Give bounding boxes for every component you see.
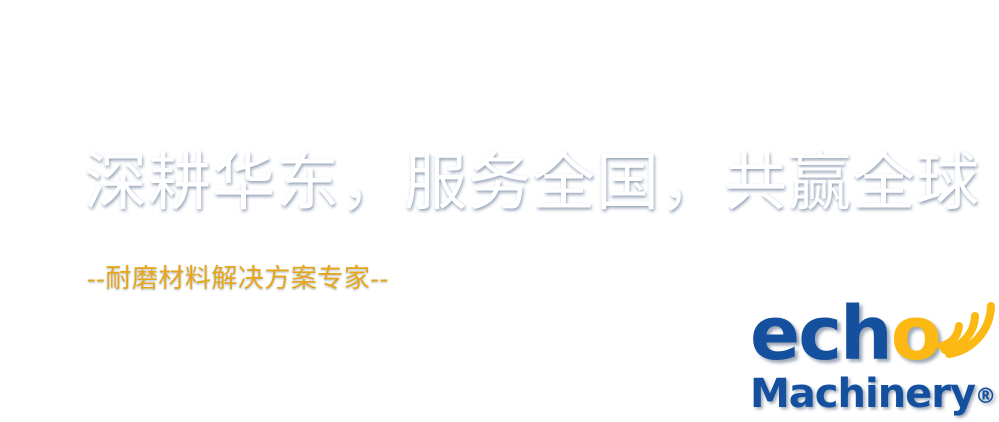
banner-headline: 深耕华东，服务全国，共赢全球 <box>84 152 980 215</box>
logo-tagline-text: Machinery <box>750 371 975 417</box>
registered-trademark-icon: ® <box>975 384 996 408</box>
logo-wordmark: echo <box>748 296 998 372</box>
logo-tagline: Machinery® <box>750 372 996 418</box>
logo-brand-text: echo <box>750 296 940 372</box>
logo-brand-text-accent: o <box>891 291 940 377</box>
signal-wave-icon <box>933 296 999 368</box>
promo-banner: 深耕华东，服务全国，共赢全球 --耐磨材料解决方案专家-- echo Machi… <box>0 0 999 422</box>
company-logo[interactable]: echo Machinery® <box>748 292 998 422</box>
logo-brand-text-dark: ech <box>750 291 891 377</box>
banner-subtitle: --耐磨材料解决方案专家-- <box>87 266 389 292</box>
